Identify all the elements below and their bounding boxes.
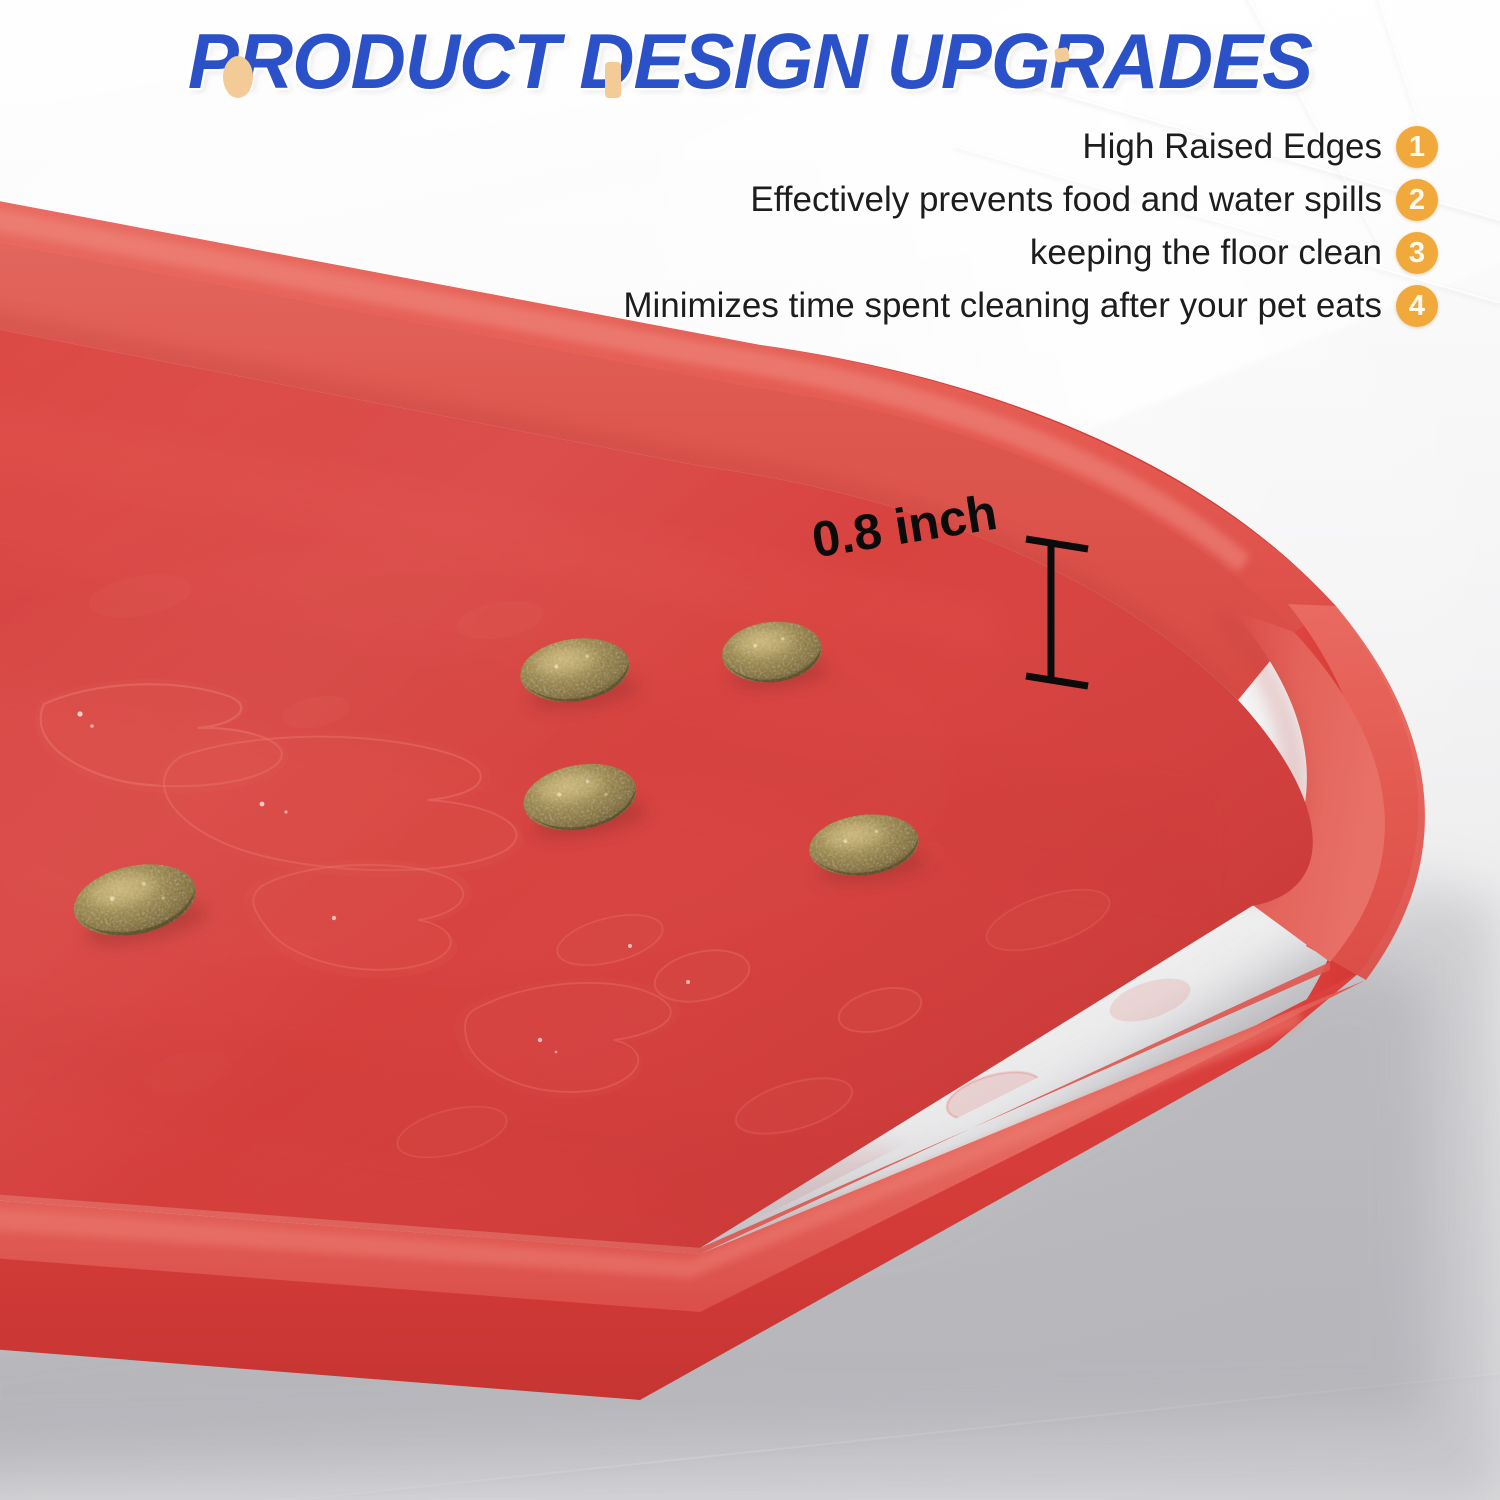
feature-text: Effectively prevents food and water spil… (750, 182, 1382, 218)
feature-text: keeping the floor clean (1030, 235, 1382, 271)
feature-item: Minimizes time spent cleaning after your… (623, 285, 1438, 327)
page-title: PRODUCT DESIGN UPGRADES (15, 22, 1485, 100)
feature-text: Minimizes time spent cleaning after your… (623, 288, 1382, 324)
feature-list: High Raised Edges 1 Effectively prevents… (138, 126, 1438, 327)
product-feature-graphic: 0.8 inch PRODUCT DESIGN UPGRADES High Ra… (0, 0, 1500, 1500)
feature-item: Effectively prevents food and water spil… (750, 179, 1438, 221)
feature-number-badge: 4 (1396, 285, 1438, 327)
feature-number-badge: 3 (1396, 232, 1438, 274)
feature-number-badge: 1 (1396, 126, 1438, 168)
feature-item: keeping the floor clean 3 (1030, 232, 1438, 274)
feature-item: High Raised Edges 1 (1082, 126, 1438, 168)
feature-text: High Raised Edges (1082, 129, 1382, 165)
feature-number-badge: 2 (1396, 179, 1438, 221)
